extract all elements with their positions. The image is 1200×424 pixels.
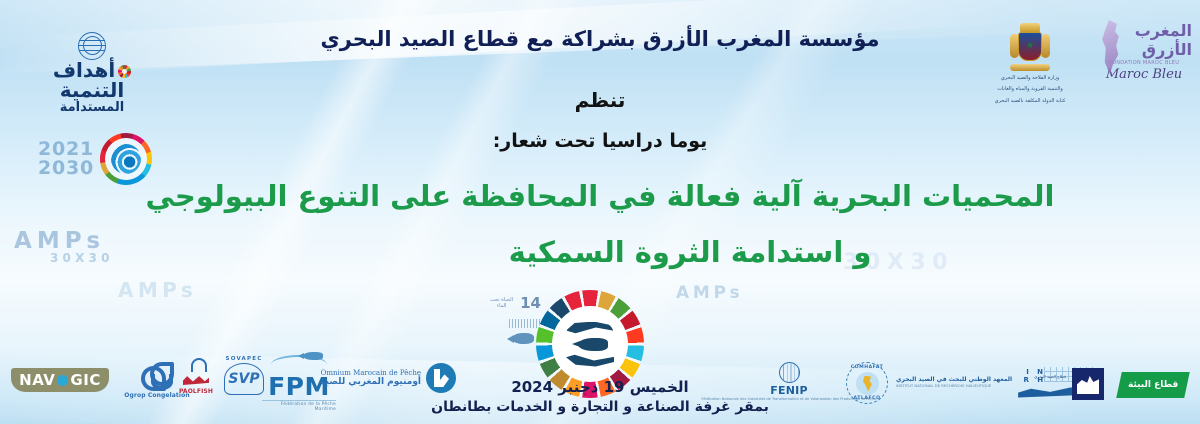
sponsor-logo-omnium: Omnium Marocain de Pêche أومنيوم المغربي… [336, 363, 456, 393]
maroc-bleu-french: Maroc Bleu [1106, 67, 1182, 82]
sponsor-logo-fishing-department: قطاع الصيد البحري [1068, 368, 1108, 400]
sdg14-label: الحياة تحت الماء [487, 297, 516, 310]
paolfish-mark-icon [181, 358, 211, 388]
fish-center-icon [572, 338, 608, 351]
sovapec-svp-mark: SVP [224, 363, 264, 395]
inrh-mark-icon: I N R H [1016, 366, 1046, 398]
event-type-label: يوما دراسيا تحت شعار: [0, 130, 1200, 152]
event-venue: بمقر غرفة الصناعة و التجارة و الخدمات بط… [0, 399, 1200, 415]
ministry-line-1: وزارة الفلاحة والصيد البحري [1001, 75, 1059, 83]
fpm-subtitle: Fédération de la Pêche Maritime [262, 400, 336, 412]
fishing-department-icon [1072, 368, 1104, 400]
gicnav-badge: GIC NAV [11, 368, 109, 392]
omnium-french: Omnium Marocain de Pêche [321, 369, 421, 377]
fenip-label: FENIP [770, 384, 808, 397]
sdg14-header: 14 الحياة تحت الماء [487, 294, 541, 312]
fishing-department-label: قطاع الصيد البحري [1034, 374, 1066, 380]
fpm-fish-icon [303, 352, 323, 360]
comhafat-top-label: COMHAFAT [851, 365, 884, 370]
paolfish-label: PAOLFISH [179, 388, 213, 395]
comhafat-bottom-label: ATLAFCO [853, 396, 880, 401]
maroc-bleu-logo: المغرب الأزرق FONDATION MAROC BLEU Maroc… [1096, 14, 1192, 88]
gicnav-text-2: NAV [19, 371, 55, 389]
watermark-amps-lower-left: AMPs [118, 278, 197, 302]
sponsor-logo-comhafat: COMHAFAT ATLAFCO [836, 362, 898, 404]
year-to: 2030 [38, 159, 94, 178]
sdg-colour-dot-icon [118, 65, 131, 78]
comhafat-seal-icon: COMHAFAT ATLAFCO [846, 362, 888, 404]
event-banner: AMPs 30X30 AMPs AMPs 30X30 أهداف التنمية… [0, 0, 1200, 424]
sponsor-logo-fenip: FENIP Fédération Nationale des Industrie… [758, 362, 820, 402]
omnium-mark-icon [426, 363, 456, 393]
inrh-text: المعهد الوطني للبحث في الصيد البحري INST… [896, 376, 1012, 389]
inrh-arabic: المعهد الوطني للبحث في الصيد البحري [896, 376, 1012, 383]
sponsor-logo-inrh: I N R H المعهد الوطني للبحث في الصيد الب… [896, 366, 1046, 398]
organizes-label: تنظم [0, 88, 1200, 112]
sponsor-logo-environment: قطاع البيئة [1118, 372, 1188, 398]
globe-dot-icon [57, 375, 68, 386]
hand-bottom-icon [566, 352, 614, 367]
maroc-bleu-subtitle: FONDATION MAROC BLEU [1109, 60, 1179, 66]
gicnav-text-1: GIC [70, 371, 100, 389]
environment-badge: قطاع البيئة [1116, 372, 1190, 398]
watermark-amps-center: AMPs [676, 283, 743, 303]
omnium-arabic: أومنيوم المغربي للصيد [320, 377, 421, 387]
slogan-line-1: المحميات البحرية آلية فعالة في المحافظة … [0, 179, 1200, 213]
sovapec-arc-label: SOVAPEC [226, 356, 263, 362]
slogan-line-2: و استدامة الثروة السمكية [0, 235, 1200, 269]
sponsor-logo-gicnav: GIC NAV [18, 368, 102, 392]
fpm-arc-icon [271, 355, 327, 374]
fenip-globe-icon [779, 362, 800, 383]
africa-globe-icon [856, 372, 879, 395]
environment-label: قطاع البيئة [1128, 380, 1178, 390]
omnium-text: Omnium Marocain de Pêche أومنيوم المغربي… [320, 369, 421, 387]
hand-top-icon [566, 322, 614, 337]
organizer-line: مؤسسة المغرب الأزرق بشراكة مع قطاع الصيد… [0, 27, 1200, 51]
inrh-french: INSTITUT NATIONAL DE RECHERCHE HALIEUTIQ… [896, 383, 991, 389]
wheel-center-emblem [552, 306, 628, 382]
sdg14-badge: 14 الحياة تحت الماء [487, 291, 541, 349]
sdg-line-1: أهداف [53, 60, 131, 80]
